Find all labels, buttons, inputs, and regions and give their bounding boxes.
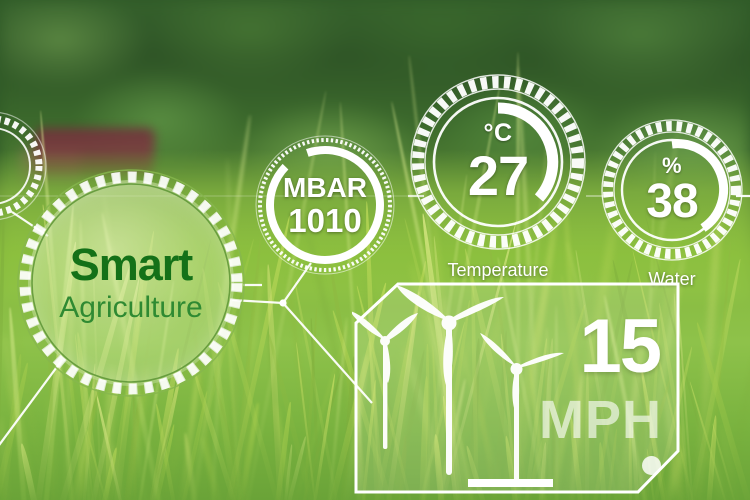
- gauge-temperature[interactable]: °C 27 Temperature: [408, 72, 588, 252]
- hub-title-primary: Smart: [70, 242, 193, 287]
- gauge-temperature-value: 27: [468, 148, 528, 204]
- dashboard-scene: Smart Agriculture MBAR 1010: [0, 0, 750, 500]
- wind-panel-corner-dot: [642, 456, 661, 475]
- gauge-water-readout: % 38: [599, 117, 745, 263]
- gauge-pressure-unit: MBAR: [283, 174, 367, 202]
- gauge-water-percent[interactable]: % 38 Water: [599, 117, 745, 263]
- gauge-water-value: 38: [646, 178, 697, 226]
- smart-agriculture-hub[interactable]: Smart Agriculture: [16, 168, 246, 398]
- gauge-pressure-readout: MBAR 1010: [255, 135, 395, 275]
- gauge-temperature-readout: °C 27: [408, 72, 588, 252]
- wind-panel-bottom-bar: [468, 479, 553, 487]
- wind-speed-unit: MPH: [539, 393, 662, 447]
- gauge-pressure-value: 1010: [288, 204, 361, 237]
- gauge-temperature-unit: °C: [483, 121, 512, 146]
- gauge-pressure-mbar[interactable]: MBAR 1010: [255, 135, 395, 275]
- wind-speed-value: 15: [579, 309, 660, 385]
- wind-speed-panel[interactable]: 15 MPH: [352, 281, 682, 496]
- hub-text-block: Smart Agriculture: [16, 168, 246, 398]
- gauge-temperature-label: Temperature: [447, 260, 548, 281]
- gauge-water-unit: %: [662, 155, 682, 177]
- hub-title-secondary: Agriculture: [59, 291, 202, 324]
